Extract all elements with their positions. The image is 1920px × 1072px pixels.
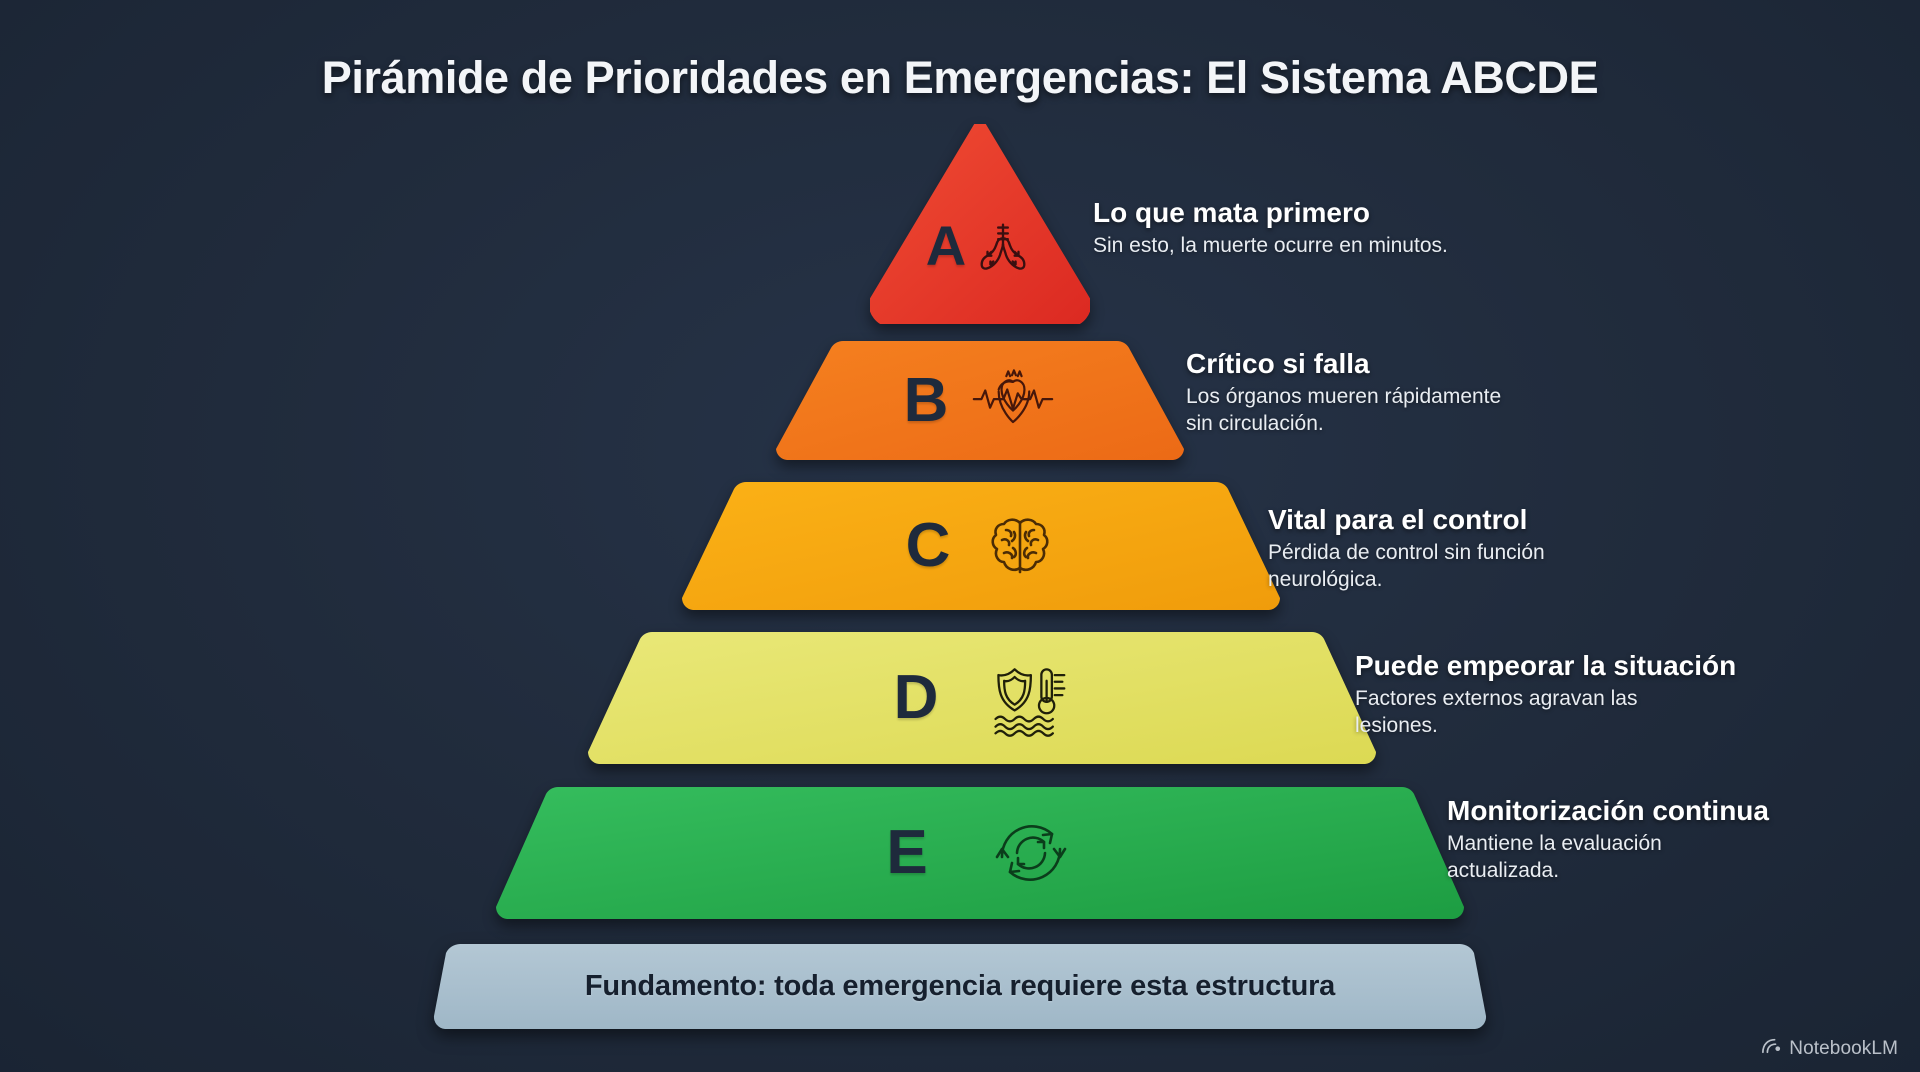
shield-thermometer-waves-icon: [986, 659, 1070, 737]
callout-d: Puede empeorar la situación Factores ext…: [1355, 650, 1736, 740]
callout-b-subtext: Los órganos mueren rápidamente sin circu…: [1186, 384, 1501, 438]
pyramid-diagram: A: [0, 0, 1920, 1072]
lungs-icon: [972, 215, 1034, 277]
callout-a: Lo que mata primero Sin esto, la muerte …: [1093, 197, 1448, 260]
callout-d-headline: Puede empeorar la situación: [1355, 650, 1736, 682]
tier-c-letter: C: [906, 515, 951, 577]
callout-c-headline: Vital para el control: [1268, 504, 1545, 536]
brain-icon: [984, 510, 1056, 582]
callout-e-headline: Monitorización continua: [1447, 795, 1769, 827]
callout-a-subtext: Sin esto, la muerte ocurre en minutos.: [1093, 233, 1448, 260]
refresh-cycle-icon: [988, 813, 1074, 893]
callout-c-subtext: Pérdida de control sin función neurológi…: [1268, 540, 1545, 594]
pyramid-tier-c[interactable]: C: [676, 478, 1286, 614]
heart-ecg-icon: [970, 366, 1056, 436]
tier-e-letter: E: [886, 822, 927, 884]
watermark-label: NotebookLM: [1789, 1038, 1898, 1060]
callout-b: Crítico si falla Los órganos mueren rápi…: [1186, 348, 1501, 438]
notebooklm-icon: [1760, 1037, 1782, 1060]
tier-d-content: D: [894, 659, 1071, 737]
pyramid-tier-e[interactable]: E: [490, 783, 1470, 923]
tier-a-content: A: [926, 215, 1034, 277]
callout-e-subtext: Mantiene la evaluación actualizada.: [1447, 831, 1769, 885]
tier-c-content: C: [906, 510, 1057, 582]
pyramid-tier-d[interactable]: D: [582, 628, 1382, 768]
foundation-bar[interactable]: Fundamento: toda emergencia requiere est…: [430, 940, 1490, 1032]
tier-d-letter: D: [894, 667, 939, 729]
pyramid-tier-b[interactable]: B: [770, 337, 1190, 464]
watermark: NotebookLM: [1760, 1037, 1898, 1060]
foundation-text: Fundamento: toda emergencia requiere est…: [585, 970, 1335, 1003]
tier-e-content: E: [886, 813, 1073, 893]
tier-b-content: B: [904, 366, 1057, 436]
tier-a-letter: A: [926, 218, 966, 274]
callout-d-subtext: Factores externos agravan las lesiones.: [1355, 686, 1736, 740]
callout-a-headline: Lo que mata primero: [1093, 197, 1448, 229]
callout-b-headline: Crítico si falla: [1186, 348, 1501, 380]
callout-e: Monitorización continua Mantiene la eval…: [1447, 795, 1769, 885]
pyramid-tier-a[interactable]: A: [870, 124, 1090, 324]
tier-b-letter: B: [904, 370, 949, 432]
callout-c: Vital para el control Pérdida de control…: [1268, 504, 1545, 594]
